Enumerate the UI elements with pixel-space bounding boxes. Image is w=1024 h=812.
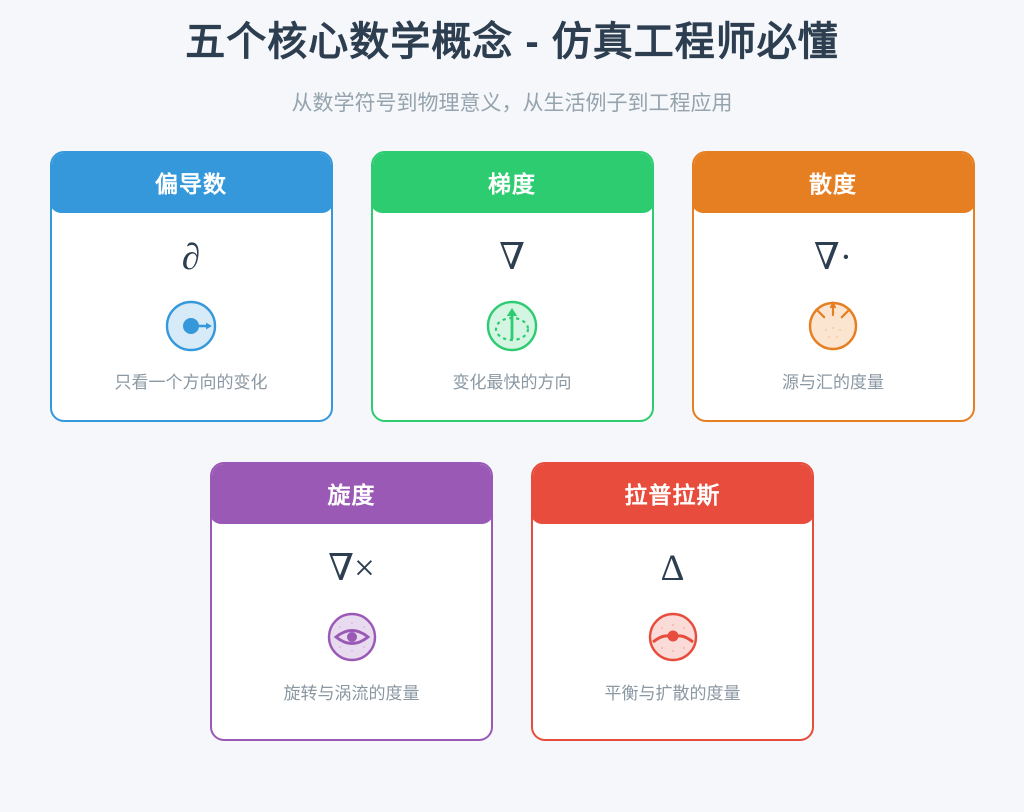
concept-card-grid: 偏导数 ∂ 只看一个方向的变化: [0, 151, 1024, 741]
card-header: 偏导数: [50, 151, 333, 213]
concept-card-partial-derivative[interactable]: 偏导数 ∂ 只看一个方向的变化: [50, 151, 333, 422]
dot-with-right-arrow-icon: [164, 299, 218, 353]
card-description: 变化最快的方向: [453, 372, 572, 394]
card-header: 散度: [692, 151, 975, 213]
card-title: 偏导数: [155, 165, 227, 199]
card-symbol: Δ: [661, 546, 685, 590]
card-title: 旋度: [328, 476, 376, 510]
radiating-source-icon: [806, 299, 860, 353]
card-title: 散度: [809, 165, 857, 199]
card-body: ∇ 变化最快的方向: [373, 213, 652, 420]
saddle-balance-icon: [646, 610, 700, 664]
card-row-top: 偏导数 ∂ 只看一个方向的变化: [50, 151, 975, 422]
concept-card-curl[interactable]: 旋度 ∇×: [210, 462, 493, 741]
concept-card-laplacian[interactable]: 拉普拉斯 Δ: [531, 462, 814, 741]
card-row-bottom: 旋度 ∇×: [210, 462, 814, 741]
page-subtitle: 从数学符号到物理意义，从生活例子到工程应用: [0, 90, 1024, 117]
card-title: 拉普拉斯: [625, 476, 721, 510]
concept-card-divergence[interactable]: 散度 ∇·: [692, 151, 975, 422]
card-body: ∂ 只看一个方向的变化: [52, 213, 331, 420]
infographic-page: 五个核心数学概念 - 仿真工程师必懂 从数学符号到物理意义，从生活例子到工程应用…: [0, 0, 1024, 812]
card-body: ∇·: [694, 213, 973, 420]
page-header: 五个核心数学概念 - 仿真工程师必懂 从数学符号到物理意义，从生活例子到工程应用: [0, 0, 1024, 117]
card-symbol: ∇: [499, 235, 525, 279]
card-symbol: ∇×: [328, 546, 375, 590]
card-header: 旋度: [210, 462, 493, 524]
vortex-eye-icon: [325, 610, 379, 664]
card-symbol: ∂: [182, 235, 200, 279]
card-body: ∇× 旋转与涡流的度量: [212, 524, 491, 739]
card-description: 旋转与涡流的度量: [284, 683, 420, 705]
card-header: 拉普拉斯: [531, 462, 814, 524]
card-description: 平衡与扩散的度量: [605, 683, 741, 705]
card-header: 梯度: [371, 151, 654, 213]
card-body: Δ 平衡与扩散的度量: [533, 524, 812, 739]
card-title: 梯度: [488, 165, 536, 199]
concept-card-gradient[interactable]: 梯度 ∇ 变化最快的方向: [371, 151, 654, 422]
card-description: 源与汇的度量: [782, 372, 884, 394]
page-title: 五个核心数学概念 - 仿真工程师必懂: [0, 18, 1024, 66]
card-symbol: ∇·: [814, 235, 852, 279]
contour-up-arrow-icon: [485, 299, 539, 353]
card-description: 只看一个方向的变化: [115, 372, 268, 394]
